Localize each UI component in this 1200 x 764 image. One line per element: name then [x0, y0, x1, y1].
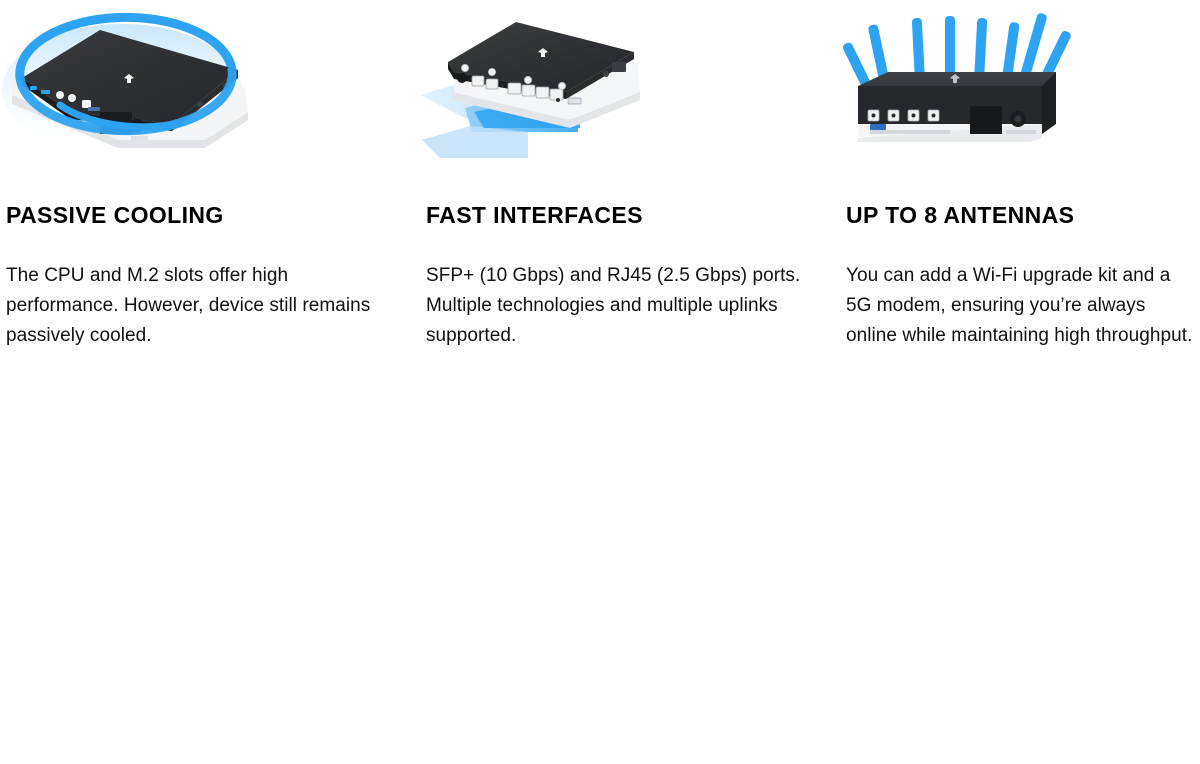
feature-card-fast-interfaces: FAST INTERFACES SFP+ (10 Gbps) and RJ45 …	[410, 0, 820, 385]
color-display-screen	[970, 106, 1002, 134]
feature-heading: FAST INTERFACES	[426, 202, 643, 228]
feature-image-fast-interfaces	[410, 0, 804, 190]
feature-card-rack-mount-ready: RACK-MOUNT READY The smart, modular desi…	[410, 385, 820, 764]
feature-body: SFP+ (10 Gbps) and RJ45 (2.5 Gbps) ports…	[426, 261, 801, 351]
feature-image-passive-cooling	[0, 0, 404, 190]
feature-card-extensible: EXTENSIBLE Three M.2 slots and two USB 3…	[820, 385, 1200, 764]
feature-body: You can add a Wi-Fi upgrade kit and a 5G…	[846, 261, 1200, 351]
feature-image-up-to-8-antennas	[820, 0, 1174, 190]
feature-heading: PASSIVE COOLING	[6, 202, 224, 228]
device-front-with-eight-blue-antennas	[820, 0, 1200, 190]
feature-heading: UP TO 8 ANTENNAS	[846, 202, 1074, 228]
feature-card-passive-cooling: PASSIVE COOLING The CPU and M.2 slots of…	[0, 0, 410, 385]
feature-body: The CPU and M.2 slots offer high perform…	[6, 261, 381, 351]
device-rear-ports-with-blue-speed-arrows	[410, 0, 820, 190]
feature-card-color-display: Dashboard 12 days 8.1 kb/s ↑ 16 kb/s ↓	[0, 385, 410, 764]
usb-port-icon	[870, 124, 886, 130]
feature-card-up-to-8-antennas: UP TO 8 ANTENNAS You can add a Wi-Fi upg…	[820, 0, 1200, 385]
features-grid: PASSIVE COOLING The CPU and M.2 slots of…	[0, 0, 1200, 764]
feature-grid-page: PASSIVE COOLING The CPU and M.2 slots of…	[0, 0, 1200, 764]
device-top-angled-with-blue-airflow-ring	[0, 0, 410, 190]
